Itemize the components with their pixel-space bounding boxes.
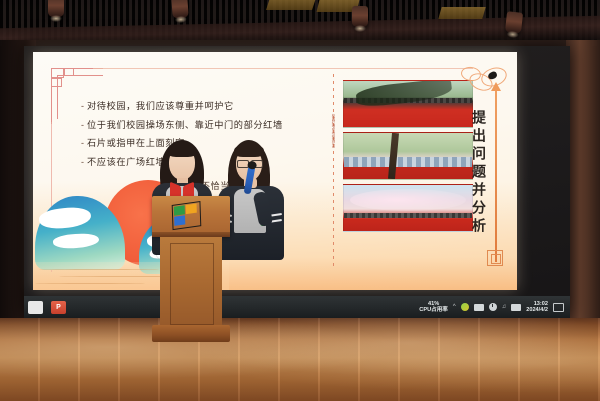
taskbar-tray[interactable]: 41% CPU占用率 ^ ♫ 13:02 2024/4/2 (419, 301, 570, 314)
plum-blossom-ornament-icon (459, 66, 509, 98)
stage-light-icon (171, 0, 188, 19)
dashed-divider (333, 74, 334, 270)
wave-line (35, 283, 145, 284)
list-item: - 对待校园，我们应该尊重并呵护它 (81, 100, 331, 113)
taskbar-clock[interactable]: 13:02 2024/4/2 (526, 301, 548, 314)
arrow-bar-icon (495, 88, 497, 262)
input-method-icon[interactable] (474, 304, 484, 311)
stage-light-icon (352, 6, 368, 27)
windows-taskbar[interactable]: P 41% CPU占用率 ^ ♫ 13:02 2024/4/2 (24, 296, 570, 318)
stage-floor (0, 318, 600, 401)
wall-right (566, 40, 600, 328)
taskbar-apps[interactable]: P (24, 301, 66, 314)
school-emblem (174, 203, 201, 229)
taskbar-app-powerpoint[interactable]: P (51, 301, 66, 314)
clock-date: 2024/4/2 (526, 307, 548, 314)
stage-light-icon (48, 0, 64, 17)
photo-caption: 校园红墙实地拍摄记录 (329, 114, 335, 148)
display-icon[interactable] (553, 303, 564, 312)
podium-top (152, 196, 230, 236)
hair-fringe (167, 143, 197, 157)
hair-fringe (234, 144, 264, 157)
podium (152, 196, 230, 346)
ceiling-panel (266, 0, 316, 10)
wave-line (39, 269, 159, 270)
photo-column (343, 80, 471, 236)
slide-calligraphy-title: 提出问题并分析 (468, 110, 487, 236)
red-wall-tree-tiles-photo (343, 132, 473, 180)
taskbar-app-document[interactable] (28, 301, 43, 314)
security-icon[interactable] (461, 303, 469, 311)
stage-light-icon (505, 11, 523, 34)
red-wall-roof-branch-photo (343, 80, 473, 128)
cpu-usage-indicator[interactable]: 41% CPU占用率 (419, 301, 448, 313)
chevron-up-icon[interactable]: ^ (453, 304, 456, 310)
podium-body (160, 237, 222, 329)
clock-icon[interactable] (489, 303, 497, 311)
bullet-text: 位于我们校园操场东侧、靠近中门的部分红墙 (87, 119, 283, 132)
auditorium-scene: - 对待校园，我们应该尊重并呵护它 - 位于我们校园操场东侧、靠近中门的部分红墙… (0, 0, 600, 401)
bullet-text: 对待校园，我们应该尊重并呵护它 (87, 100, 234, 113)
podium-base (152, 325, 230, 342)
cpu-label: CPU占用率 (419, 307, 448, 313)
volume-icon[interactable]: ♫ (502, 304, 507, 310)
red-wall-cherry-blossom-photo (343, 184, 473, 232)
seal-box-ornament-icon (487, 250, 503, 266)
network-icon[interactable] (511, 304, 521, 311)
floor-reflections (0, 318, 600, 401)
ceiling-panel (438, 7, 485, 19)
list-item: - 位于我们校园操场东侧、靠近中门的部分红墙 (81, 119, 331, 132)
frame-line-horizontal (93, 68, 473, 69)
